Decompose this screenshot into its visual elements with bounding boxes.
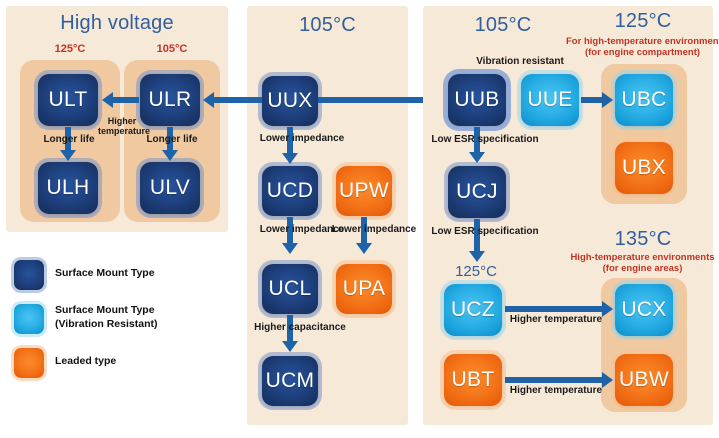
part-label-UUE: UUE bbox=[527, 88, 572, 112]
arrowhead-uue-to-ubc bbox=[602, 92, 613, 108]
part-label-UCZ: UCZ bbox=[451, 298, 495, 322]
part-box-UCX[interactable]: UCX bbox=[615, 284, 673, 336]
part-box-UPA[interactable]: UPA bbox=[336, 264, 392, 314]
part-box-UCD[interactable]: UCD bbox=[262, 166, 318, 216]
part-label-UCL: UCL bbox=[269, 277, 312, 301]
legend-label-leaded-line1: Leaded type bbox=[55, 355, 116, 367]
part-box-UCJ[interactable]: UCJ bbox=[448, 166, 506, 218]
annotation-higher-capacitance: Higher capacitance bbox=[240, 322, 360, 333]
panel-title-high-voltage: High voltage bbox=[6, 12, 228, 35]
part-box-UCL[interactable]: UCL bbox=[262, 264, 318, 314]
note-engine-compartment-line2: (for engine compartment) bbox=[585, 47, 700, 58]
legend-item-surface-mount-vibration: Surface Mount Type (Vibration Resistant) bbox=[10, 302, 225, 346]
part-box-ULH[interactable]: ULH bbox=[38, 162, 98, 214]
panel-title-125c-right: 125°C bbox=[572, 10, 714, 33]
arrow-uux-to-ulr bbox=[214, 97, 262, 103]
annotation-higher-temperature-ucz: Higher temperature bbox=[503, 314, 609, 325]
arrowhead-ulr-to-ulv bbox=[162, 150, 178, 161]
part-label-UCJ: UCJ bbox=[456, 180, 498, 204]
part-label-UUX: UUX bbox=[267, 89, 312, 113]
part-box-UCZ[interactable]: UCZ bbox=[444, 284, 502, 336]
annotation-lower-impedance-1: Lower impedance bbox=[250, 133, 354, 144]
panel-title-105c-middle: 105°C bbox=[247, 14, 408, 37]
subpanel-temp-125c-left: 125°C bbox=[20, 43, 120, 55]
part-box-UBX[interactable]: UBX bbox=[615, 142, 673, 194]
part-box-ULT[interactable]: ULT bbox=[38, 74, 98, 126]
legend-label-leaded: Leaded type bbox=[55, 354, 116, 368]
diagram-canvas: High voltage 125°C 105°C ULT ULH ULR ULV… bbox=[0, 0, 719, 438]
part-box-UBT[interactable]: UBT bbox=[444, 354, 502, 406]
legend-label-surface-mount: Surface Mount Type bbox=[55, 266, 155, 280]
part-box-UPW[interactable]: UPW bbox=[336, 166, 392, 216]
note-engine-areas-line2: (for engine areas) bbox=[603, 263, 683, 274]
part-label-ULR: ULR bbox=[149, 88, 192, 112]
annotation-vibration-resistant: Vibration resistant bbox=[450, 56, 590, 67]
arrow-ubt-to-ubw bbox=[505, 377, 603, 383]
legend-item-surface-mount: Surface Mount Type bbox=[10, 258, 225, 302]
arrowhead-ulr-to-ult bbox=[102, 92, 113, 108]
legend-swatch-orange-icon bbox=[14, 348, 44, 378]
legend-swatch-cyan-icon bbox=[14, 304, 44, 334]
note-engine-compartment-line1: For high-temperature environments bbox=[566, 36, 719, 47]
arrow-uue-to-ubc bbox=[581, 97, 603, 103]
annotation-higher-temperature-ubt: Higher temperature bbox=[503, 385, 609, 396]
arrowhead-uux-to-ulr bbox=[203, 92, 214, 108]
temp-label-125c-ucz: 125°C bbox=[438, 263, 514, 280]
note-engine-areas: High-temperature environments (for engin… bbox=[566, 252, 719, 274]
arrowhead-uub-to-ucj bbox=[469, 152, 485, 163]
part-label-UCX: UCX bbox=[621, 298, 666, 322]
legend: Surface Mount Type Surface Mount Type (V… bbox=[10, 258, 225, 390]
arrow-ulr-to-ult bbox=[113, 97, 139, 103]
part-box-UBC[interactable]: UBC bbox=[615, 74, 673, 126]
legend-label-vibration-line2: (Vibration Resistant) bbox=[55, 317, 158, 331]
legend-item-leaded: Leaded type bbox=[10, 346, 225, 390]
arrowhead-upw-to-upa bbox=[356, 243, 372, 254]
part-label-UBT: UBT bbox=[452, 368, 495, 392]
part-label-ULH: ULH bbox=[47, 176, 90, 200]
legend-label-vibration-line1: Surface Mount Type bbox=[55, 304, 155, 316]
part-box-UUX[interactable]: UUX bbox=[262, 76, 318, 126]
subpanel-temp-105c-left: 105°C bbox=[124, 43, 220, 55]
part-box-UBW[interactable]: UBW bbox=[615, 354, 673, 406]
legend-label-surface-mount-line1: Surface Mount Type bbox=[55, 267, 155, 279]
part-box-UUB[interactable]: UUB bbox=[448, 74, 506, 126]
part-box-UUE[interactable]: UUE bbox=[521, 74, 579, 126]
part-box-ULR[interactable]: ULR bbox=[140, 74, 200, 126]
panel-title-105c-right: 105°C bbox=[438, 14, 568, 37]
note-engine-areas-line1: High-temperature environments bbox=[570, 252, 714, 263]
annotation-low-esr-2: Low ESR specification bbox=[424, 226, 546, 237]
legend-swatch-navy-icon bbox=[14, 260, 44, 290]
annotation-low-esr-1: Low ESR specification bbox=[424, 134, 546, 145]
arrowhead-ucj-to-ucz bbox=[469, 251, 485, 262]
part-label-UUB: UUB bbox=[454, 88, 499, 112]
part-label-UBW: UBW bbox=[619, 368, 669, 392]
part-box-ULV[interactable]: ULV bbox=[140, 162, 200, 214]
arrowhead-uux-to-ucd bbox=[282, 153, 298, 164]
part-label-UPA: UPA bbox=[343, 277, 386, 301]
note-engine-compartment: For high-temperature environments (for e… bbox=[566, 36, 719, 58]
part-label-UBC: UBC bbox=[621, 88, 666, 112]
part-label-UPW: UPW bbox=[339, 179, 389, 203]
arrowhead-ucd-to-ucl bbox=[282, 243, 298, 254]
annotation-higher-temperature-left: Higher temperature bbox=[98, 116, 146, 136]
part-label-UBX: UBX bbox=[622, 156, 666, 180]
part-box-UCM[interactable]: UCM bbox=[262, 356, 318, 406]
annotation-higher-temperature-line1: Higher bbox=[108, 116, 137, 126]
part-label-UCM: UCM bbox=[266, 369, 315, 393]
legend-label-surface-mount-vibration: Surface Mount Type (Vibration Resistant) bbox=[55, 303, 158, 331]
panel-title-135c-right: 135°C bbox=[572, 228, 714, 251]
arrowhead-ult-to-ulh bbox=[60, 150, 76, 161]
arrowhead-ucl-to-ucm bbox=[282, 341, 298, 352]
part-label-UCD: UCD bbox=[267, 179, 313, 203]
annotation-higher-temperature-line2: temperature bbox=[98, 126, 150, 136]
part-label-ULV: ULV bbox=[150, 176, 190, 200]
arrow-ucz-to-ucx bbox=[505, 306, 603, 312]
part-label-ULT: ULT bbox=[48, 88, 87, 112]
annotation-lower-impedance-3: Lower impedance bbox=[328, 224, 420, 235]
